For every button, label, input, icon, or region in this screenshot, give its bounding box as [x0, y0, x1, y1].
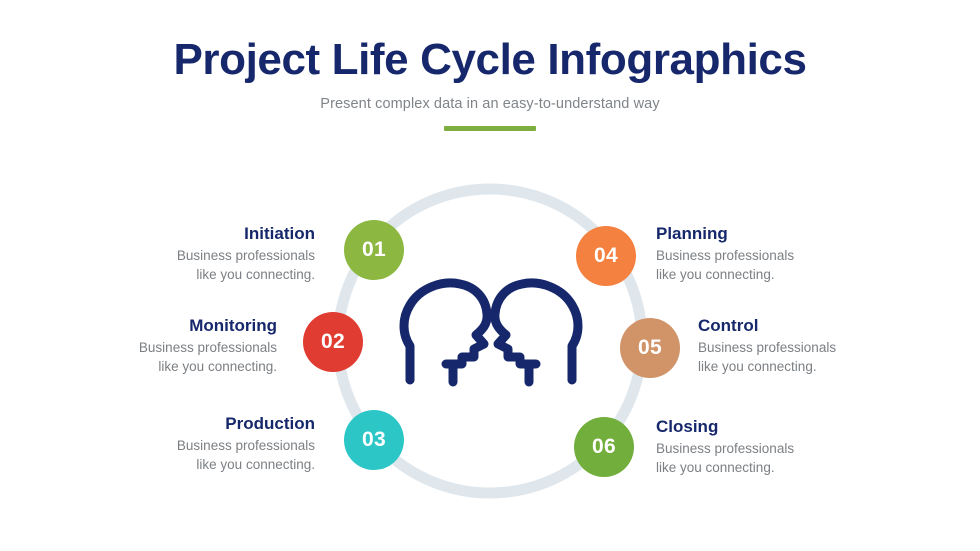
step-node-05[interactable]: 05: [620, 318, 680, 378]
two-heads-facing-icon: [398, 272, 584, 396]
step-node-01[interactable]: 01: [344, 220, 404, 280]
step-number: 05: [638, 336, 662, 360]
step-title: Planning: [656, 224, 871, 244]
step-node-02[interactable]: 02: [303, 312, 363, 372]
step-title: Control: [698, 316, 913, 336]
step-node-06[interactable]: 06: [574, 417, 634, 477]
step-number: 06: [592, 435, 616, 459]
step-text-02: MonitoringBusiness professionals like yo…: [62, 316, 277, 376]
step-node-03[interactable]: 03: [344, 410, 404, 470]
step-node-04[interactable]: 04: [576, 226, 636, 286]
step-title: Initiation: [100, 224, 315, 244]
step-description: Business professionals like you connecti…: [656, 247, 871, 283]
step-number: 01: [362, 238, 386, 262]
step-text-03: ProductionBusiness professionals like yo…: [100, 414, 315, 474]
step-description: Business professionals like you connecti…: [62, 339, 277, 375]
step-description: Business professionals like you connecti…: [698, 339, 913, 375]
step-title: Production: [100, 414, 315, 434]
infographic-slide: Project Life Cycle Infographics Present …: [0, 0, 980, 551]
step-title: Closing: [656, 417, 871, 437]
step-text-01: InitiationBusiness professionals like yo…: [100, 224, 315, 284]
step-number: 03: [362, 428, 386, 452]
step-description: Business professionals like you connecti…: [100, 247, 315, 283]
step-number: 02: [321, 330, 345, 354]
step-text-04: PlanningBusiness professionals like you …: [656, 224, 871, 284]
step-description: Business professionals like you connecti…: [100, 437, 315, 473]
step-text-06: ClosingBusiness professionals like you c…: [656, 417, 871, 477]
cycle-diagram: 010203040506 InitiationBusiness professi…: [0, 0, 980, 551]
step-text-05: ControlBusiness professionals like you c…: [698, 316, 913, 376]
step-title: Monitoring: [62, 316, 277, 336]
step-description: Business professionals like you connecti…: [656, 440, 871, 476]
step-number: 04: [594, 244, 618, 268]
